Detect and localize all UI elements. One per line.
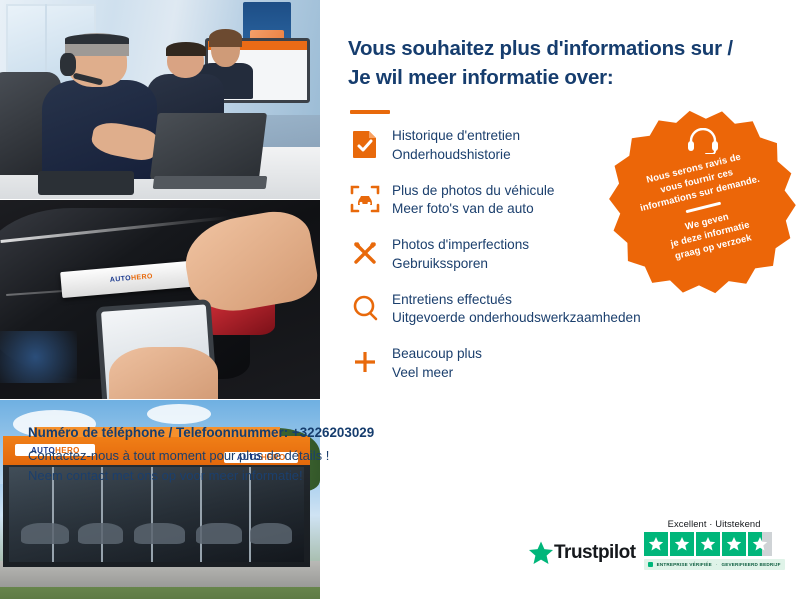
star-rating — [644, 532, 785, 556]
car-inspection-photo: AUTOHERO — [0, 200, 320, 399]
phone-number-label[interactable]: Numéro de téléphone / Telefoonnummer: +3… — [28, 425, 468, 440]
star-5-partial — [748, 532, 772, 556]
verified-separator: · — [716, 562, 718, 567]
verified-check-icon — [648, 562, 653, 567]
label-nl: Onderhoudshistorie — [392, 146, 520, 165]
label-nl: Meer foto's van de auto — [392, 200, 554, 219]
list-item-label: Photos d'imperfections Gebruikssporen — [392, 235, 529, 274]
feature-list: Historique d'entretien Onderhoudshistori… — [348, 126, 776, 383]
hand-lower — [109, 347, 218, 399]
desk-tablet — [38, 171, 134, 195]
trustpilot-rating: Excellent · Uitstekend — [644, 518, 785, 570]
trustpilot-star-icon — [528, 540, 554, 566]
page-title: Vous souhaitez plus d'informations sur /… — [348, 34, 776, 92]
call-center-photo — [0, 0, 320, 199]
cars-inside — [15, 523, 298, 544]
tools-cross-icon — [348, 236, 382, 270]
label-nl: Gebruikssporen — [392, 255, 529, 274]
star-3 — [696, 532, 720, 556]
list-item-label: Historique d'entretien Onderhoudshistori… — [392, 126, 520, 165]
promo-page: AUTOHERO — [0, 0, 800, 600]
content-column: Vous souhaitez plus d'informations sur /… — [320, 0, 800, 600]
car-photo-frame-icon — [348, 182, 382, 216]
list-item: Historique d'entretien Onderhoudshistori… — [348, 126, 776, 165]
list-item-label: Beaucoup plus Veel meer — [392, 344, 482, 383]
verified-label-fr: ENTREPRISE VÉRIFIÉE — [657, 562, 712, 567]
background-blur — [0, 331, 77, 383]
laptop — [150, 113, 267, 179]
trustpilot-wordmark: Trustpilot — [554, 542, 636, 564]
rating-caption: Excellent · Uitstekend — [644, 518, 785, 529]
trustpilot-logo: Trustpilot — [528, 540, 636, 566]
document-check-icon — [348, 127, 382, 161]
brand-part2: HERO — [131, 273, 153, 282]
list-item: Photos d'imperfections Gebruikssporen — [348, 235, 776, 274]
label-nl: Uitgevoerde onderhoudswerkzaamheden — [392, 309, 641, 328]
person-foreground — [42, 36, 157, 179]
brand-part1: AUTO — [109, 275, 131, 284]
list-item: Beaucoup plus Veel meer — [348, 344, 776, 383]
star-4 — [722, 532, 746, 556]
label-fr: Historique d'entretien — [392, 127, 520, 146]
trustpilot-block: Trustpilot Excellent · Uitstekend — [528, 518, 778, 570]
label-nl: Veel meer — [392, 364, 482, 383]
magnifier-icon — [348, 291, 382, 325]
contact-line-nl: Neem contact met ons op voor meer inform… — [28, 466, 468, 486]
headline-line-fr: Vous souhaitez plus d'informations sur / — [348, 34, 776, 63]
star-2 — [670, 532, 694, 556]
verified-label-nl: GEVERIFIEERD BEDRIJF — [721, 562, 780, 567]
cloud — [147, 404, 211, 424]
label-fr: Photos d'imperfections — [392, 236, 529, 255]
label-fr: Plus de photos du véhicule — [392, 182, 554, 201]
list-item-label: Plus de photos du véhicule Meer foto's v… — [392, 181, 554, 220]
label-fr: Entretiens effectués — [392, 291, 641, 310]
ruler-logo: AUTOHERO — [109, 273, 153, 284]
list-item-label: Entretiens effectués Uitgevoerde onderho… — [392, 290, 641, 329]
verified-business-strip: ENTREPRISE VÉRIFIÉE · GEVERIFIEERD BEDRI… — [644, 559, 785, 570]
contact-block: Numéro de téléphone / Telefoonnummer: +3… — [28, 425, 468, 485]
title-divider — [350, 110, 390, 114]
photo-column: AUTOHERO — [0, 0, 320, 600]
label-fr: Beaucoup plus — [392, 345, 482, 364]
contact-line-fr: Contactez-nous à tout moment pour plus d… — [28, 446, 468, 466]
list-item: Plus de photos du véhicule Meer foto's v… — [348, 181, 776, 220]
plus-icon — [348, 345, 382, 379]
headline-line-nl: Je wil meer informatie over: — [348, 63, 776, 92]
list-item: Entretiens effectués Uitgevoerde onderho… — [348, 290, 776, 329]
star-1 — [644, 532, 668, 556]
